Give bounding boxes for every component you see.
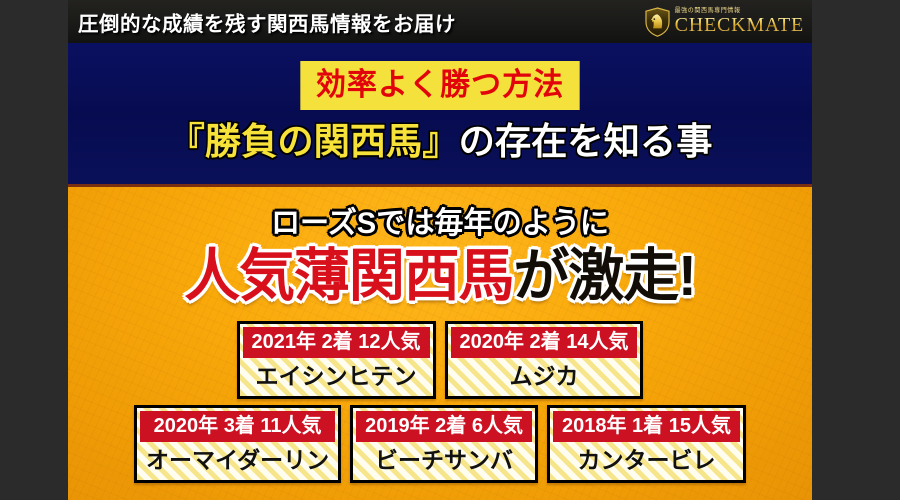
result-card-row-2: 2020年 3着 11人気 オーマイダーリン 2019年 2着 6人気 ビーチサ…	[134, 405, 746, 483]
orange-headline-main: 人気薄関西馬が激走!	[75, 248, 804, 305]
site-header: 圧倒的な成績を残す関西馬情報をお届け	[68, 0, 812, 43]
result-card: 2018年 1着 15人気 カンタービレ	[547, 405, 746, 483]
orange-results-section: ローズSでは毎年のように 人気薄関西馬が激走! 2021年 2着 12人気 エイ…	[68, 187, 812, 500]
result-card-horse: カンタービレ	[553, 442, 740, 478]
brand-logo[interactable]: 最強の関西馬専門情報 CHECKMATE	[644, 7, 806, 37]
orange-headline-red: 人気薄関西馬	[184, 244, 513, 308]
result-card-horse: ビーチサンバ	[356, 442, 532, 478]
result-card-header: 2020年 3着 11人気	[140, 411, 335, 442]
result-card-horse: オーマイダーリン	[140, 442, 335, 478]
result-card-horse: ムジカ	[451, 358, 638, 394]
promo-page: 圧倒的な成績を残す関西馬情報をお届け	[0, 0, 900, 500]
blue-subheadline-quoted: 『勝負の関西馬』	[168, 121, 458, 162]
logo-tagline: 最強の関西馬専門情報	[675, 8, 741, 14]
blue-headline-section: 効率よく勝つ方法 『勝負の関西馬』の存在を知る事	[68, 43, 812, 187]
header-tagline: 圧倒的な成績を残す関西馬情報をお届け	[78, 7, 456, 37]
result-card: 2021年 2着 12人気 エイシンヒテン	[237, 321, 436, 399]
page-content: 圧倒的な成績を残す関西馬情報をお届け	[68, 0, 812, 500]
blue-subheadline-rest: の存在を知る事	[458, 121, 712, 162]
result-card-row-1: 2021年 2着 12人気 エイシンヒテン 2020年 2着 14人気 ムジカ	[237, 321, 644, 399]
result-card: 2020年 2着 14人気 ムジカ	[445, 321, 644, 399]
orange-headline-black: が激走!	[514, 244, 696, 308]
knight-shield-icon	[644, 7, 671, 37]
logo-text: 最強の関西馬専門情報 CHECKMATE	[675, 8, 804, 35]
result-card: 2019年 2着 6人気 ビーチサンバ	[350, 405, 538, 483]
orange-inner: ローズSでは毎年のように 人気薄関西馬が激走! 2021年 2着 12人気 エイ…	[68, 187, 812, 483]
result-card-horse: エイシンヒテン	[243, 358, 430, 394]
result-card-header: 2018年 1着 15人気	[553, 411, 740, 442]
result-card-header: 2020年 2着 14人気	[451, 327, 638, 358]
highlight-box: 効率よく勝つ方法	[300, 61, 579, 110]
orange-headline-top: ローズSでは毎年のように	[79, 209, 801, 239]
logo-name: CHECKMATE	[675, 15, 804, 35]
result-cards: 2021年 2着 12人気 エイシンヒテン 2020年 2着 14人気 ムジカ …	[68, 321, 812, 483]
result-card-header: 2021年 2着 12人気	[243, 327, 430, 358]
result-card-header: 2019年 2着 6人気	[356, 411, 532, 442]
blue-subheadline: 『勝負の関西馬』の存在を知る事	[168, 123, 712, 160]
result-card: 2020年 3着 11人気 オーマイダーリン	[134, 405, 341, 483]
